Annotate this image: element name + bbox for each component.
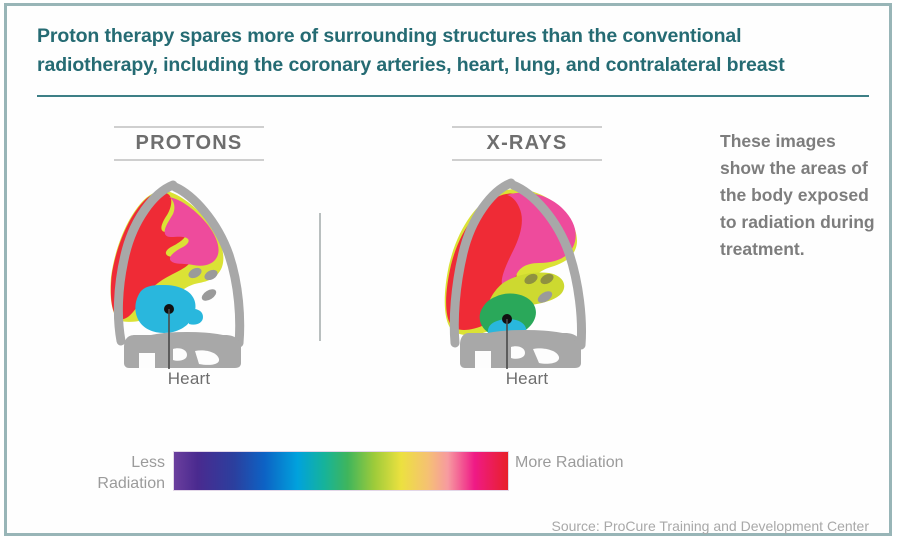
xrays-heart-label: Heart — [407, 369, 665, 389]
radiation-dose-legend: Less Radiation More Radiation — [69, 449, 609, 497]
panel-xrays-heading: X-RAYS — [452, 126, 602, 161]
legend-low-label: Less Radiation — [69, 452, 165, 494]
protons-heart-label: Heart — [69, 369, 327, 389]
vertebra-detail-3 — [475, 351, 491, 368]
legend-gradient-bar — [173, 451, 509, 491]
panel-protons-label: PROTONS — [114, 128, 264, 159]
panel-protons: PROTONS — [69, 126, 309, 369]
vertebra-arch — [475, 330, 575, 348]
title-divider — [37, 95, 869, 97]
dose-region-cyan-tab — [189, 309, 203, 325]
panel-xrays-label: X-RAYS — [452, 128, 602, 159]
panel-protons-heading: PROTONS — [114, 126, 264, 161]
infographic-card: Proton therapy spares more of surroundin… — [4, 3, 892, 536]
xrays-figure — [407, 169, 647, 369]
protons-dose-map-svg — [69, 169, 309, 369]
xrays-dose-map-svg — [407, 169, 647, 369]
legend-high-label: More Radiation — [515, 452, 625, 473]
panel-divider — [319, 213, 321, 341]
panel-rule-bottom — [452, 159, 602, 161]
title-block: Proton therapy spares more of surroundin… — [37, 22, 867, 80]
vessel-marker-3 — [200, 287, 218, 303]
source-attribution: Source: ProCure Training and Development… — [477, 518, 869, 534]
side-note-text: These images show the areas of the body … — [720, 128, 885, 263]
panel-xrays: X-RAYS — [407, 126, 647, 369]
panel-rule-bottom — [114, 159, 264, 161]
vertebra-arch — [139, 332, 235, 350]
vertebra-detail-3 — [139, 353, 155, 368]
protons-figure — [69, 169, 309, 369]
page-title: Proton therapy spares more of surroundin… — [37, 22, 867, 80]
